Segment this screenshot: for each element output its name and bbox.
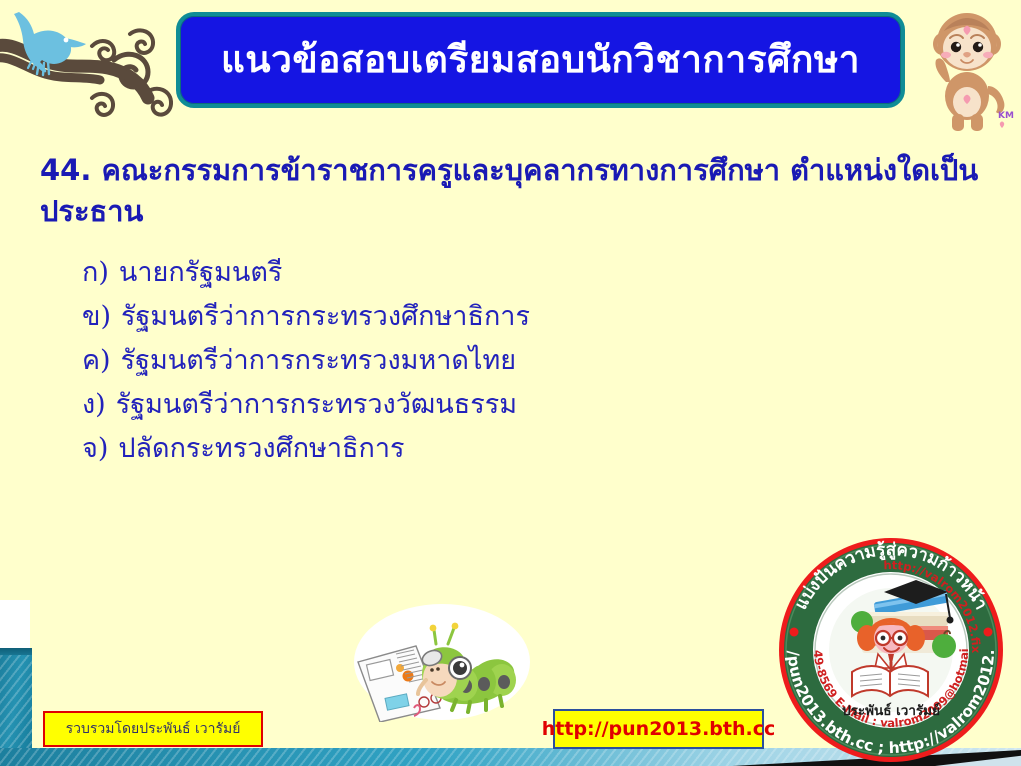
choices-list: ก) นายกรัฐมนตรี ข) รัฐมนตรีว่าการกระทรวง… <box>82 259 782 479</box>
question-text: 44. คณะกรรมการข้าราชการครูและบุคลากรทางก… <box>40 150 990 232</box>
branch-with-bird-decoration <box>0 0 196 132</box>
white-corner-notch <box>0 600 30 652</box>
choice-option-d[interactable]: ง) รัฐมนตรีว่าการกระทรวงวัฒนธรรม <box>82 391 782 418</box>
choice-key-c: ค) <box>82 347 111 374</box>
choice-key-d: ง) <box>82 391 106 418</box>
monkey-icon: KM <box>933 13 1014 131</box>
monkey-mascot-image: KM <box>928 4 1014 136</box>
choice-option-b[interactable]: ข) รัฐมนตรีว่าการกระทรวงศึกษาธิการ <box>82 303 782 330</box>
page-title: แนวข้อสอบเตรียมสอบนักวิชาการศึกษา <box>221 41 860 80</box>
choice-label-b: รัฐมนตรีว่าการกระทรวงศึกษาธิการ <box>121 303 530 330</box>
credit-text: รวบรวมโดยประพันธ์ เวารัมย์ <box>66 718 241 740</box>
svg-text:KM: KM <box>998 111 1014 121</box>
website-url-box[interactable]: http://pun2013.bth.cc <box>553 709 764 749</box>
choice-label-a: นายกรัฐมนตรี <box>119 259 282 286</box>
choice-key-a: ก) <box>82 259 109 286</box>
choice-key-e: จ) <box>82 435 108 462</box>
apple-icon-right <box>932 634 956 658</box>
choice-label-c: รัฐมนตรีว่าการกระทรวงมหาดไทย <box>121 347 517 374</box>
choice-key-b: ข) <box>82 303 111 330</box>
seal-center-name: ประพันธ์ เวารัมย์ <box>842 702 940 719</box>
choice-label-e: ปลัดกระทรวงศึกษาธิการ <box>118 435 404 462</box>
website-url-text: http://pun2013.bth.cc <box>542 718 775 740</box>
choice-option-c[interactable]: ค) รัฐมนตรีว่าการกระทรวงมหาดไทย <box>82 347 782 374</box>
organization-seal: แบ่งปันความรู้สู่ความก้าวหน้า http://pun… <box>766 522 1016 766</box>
choice-label-d: รัฐมนตรีว่าการกระทรวงวัฒนธรรม <box>116 391 517 418</box>
credit-box: รวบรวมโดยประพันธ์ เวารัมย์ <box>43 711 263 747</box>
header-banner: แนวข้อสอบเตรียมสอบนักวิชาการศึกษา <box>176 12 905 108</box>
choice-option-a[interactable]: ก) นายกรัฐมนตรี <box>82 259 782 286</box>
choice-option-e[interactable]: จ) ปลัดกระทรวงศึกษาธิการ <box>82 435 782 462</box>
slide-canvas: แนวข้อสอบเตรียมสอบนักวิชาการศึกษา <box>0 0 1021 766</box>
caterpillar-illustration <box>352 596 532 726</box>
